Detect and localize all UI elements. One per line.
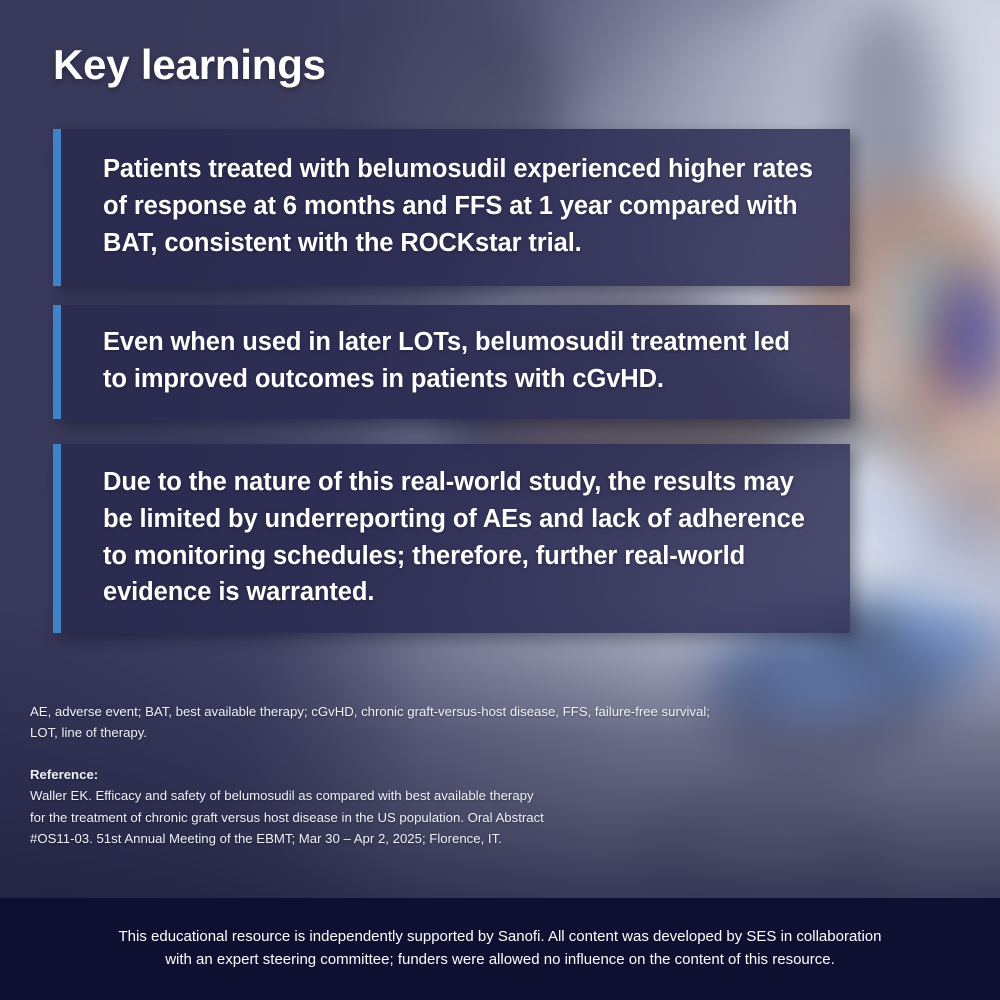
card-accent-bar	[53, 444, 61, 633]
reference-block: Reference: Waller EK. Efficacy and safet…	[30, 764, 720, 850]
card-body: Due to the nature of this real-world stu…	[61, 444, 850, 633]
key-learning-text-3: Due to the nature of this real-world stu…	[103, 464, 820, 611]
key-learning-card-1: Patients treated with belumosudil experi…	[53, 129, 850, 286]
reference-label: Reference:	[30, 764, 720, 785]
card-accent-bar	[53, 129, 61, 286]
reference-line-1: Waller EK. Efficacy and safety of belumo…	[30, 785, 720, 806]
card-accent-bar	[53, 305, 61, 419]
footer-line-2: with an expert steering committee; funde…	[165, 949, 835, 972]
key-learning-card-2: Even when used in later LOTs, belumosudi…	[53, 305, 850, 419]
page-title: Key learnings	[53, 41, 326, 89]
background-tint-bottom	[0, 600, 1000, 900]
card-body: Patients treated with belumosudil experi…	[61, 129, 850, 286]
key-learning-text-2: Even when used in later LOTs, belumosudi…	[103, 324, 820, 397]
slide-root: Key learnings Patients treated with belu…	[0, 0, 1000, 1000]
reference-line-3: #OS11-03. 51st Annual Meeting of the EBM…	[30, 828, 720, 849]
abbreviations-note: AE, adverse event; BAT, best available t…	[30, 701, 710, 744]
key-learning-text-1: Patients treated with belumosudil experi…	[103, 151, 820, 261]
key-learning-card-3: Due to the nature of this real-world stu…	[53, 444, 850, 633]
card-body: Even when used in later LOTs, belumosudi…	[61, 305, 850, 419]
footer-line-1: This educational resource is independent…	[119, 926, 882, 949]
reference-line-2: for the treatment of chronic graft versu…	[30, 807, 720, 828]
footer-band: This educational resource is independent…	[0, 898, 1000, 1000]
